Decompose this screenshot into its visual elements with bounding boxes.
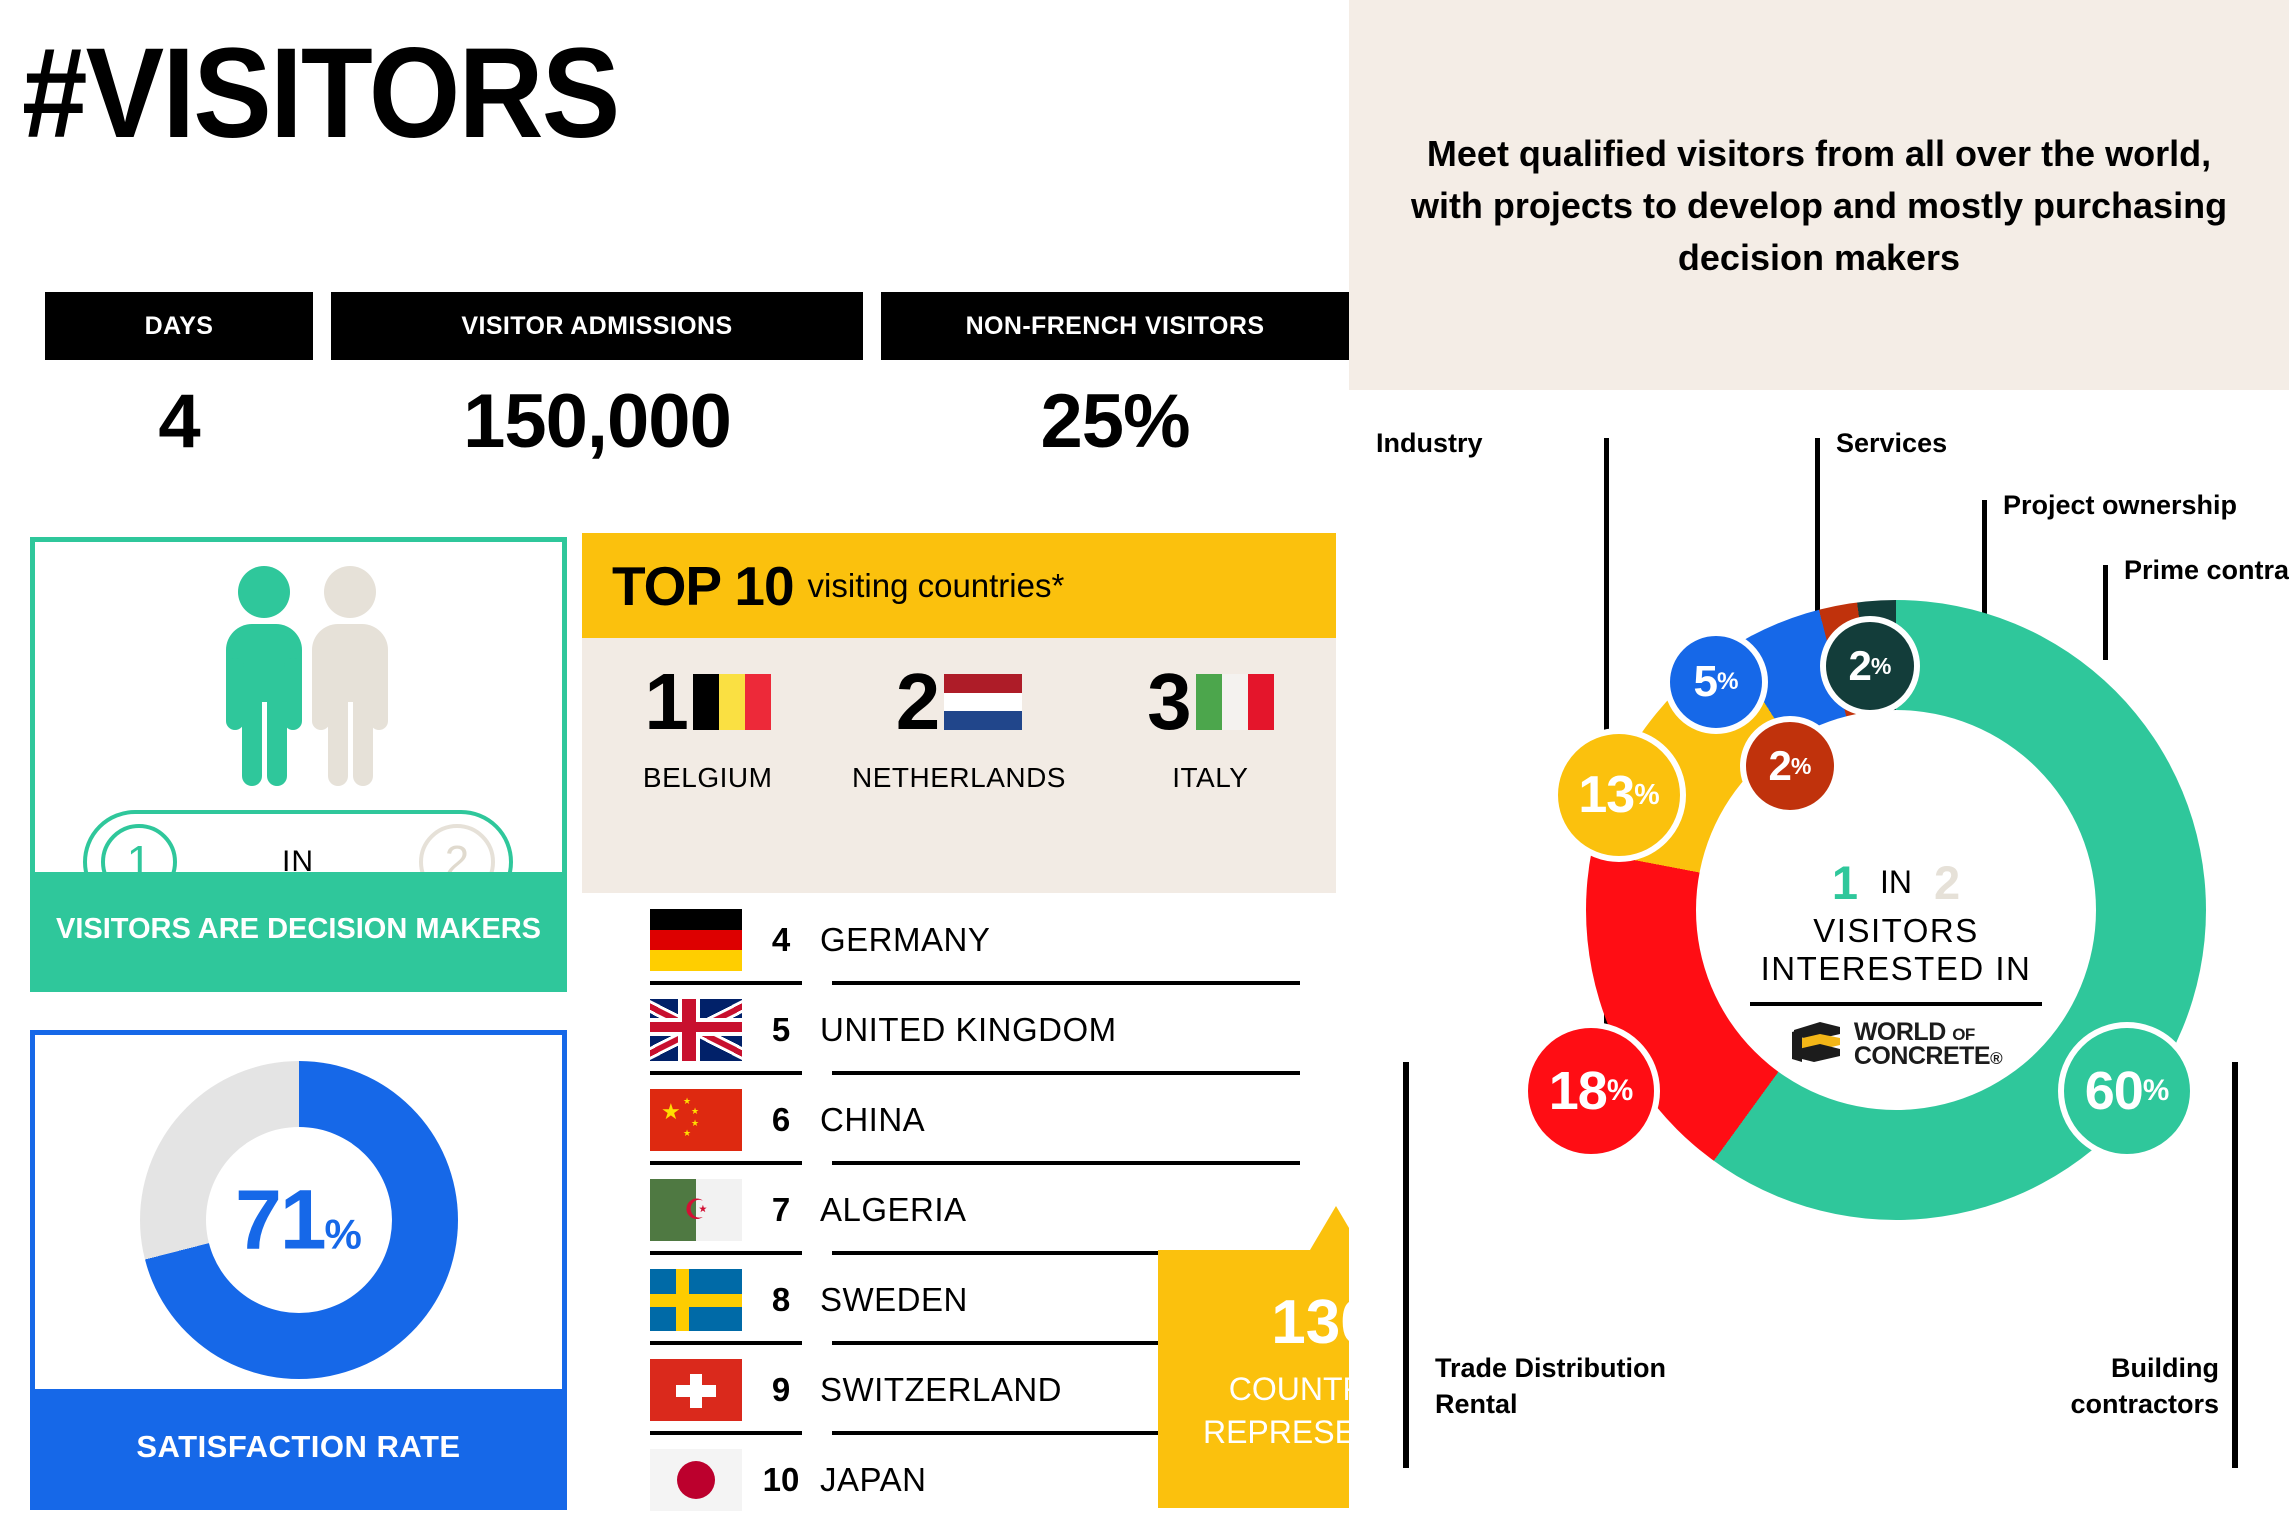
stat-value-row: 4 150,000 25% xyxy=(45,375,1349,467)
country-name: SWITZERLAND xyxy=(820,1371,1062,1409)
decision-makers-caption: VISITORS ARE DECISION MAKERS xyxy=(35,872,562,987)
flag-algeria-icon: ☪ xyxy=(650,1179,742,1241)
label-services: Services xyxy=(1836,428,1947,459)
center-ratio-denominator: 2 xyxy=(1934,855,1960,910)
bubble-value-prime: 2 xyxy=(1849,642,1871,690)
top10-subtitle: visiting countries* xyxy=(808,567,1065,605)
podium-rank-1: 1 xyxy=(644,662,687,742)
country-rank: 10 xyxy=(742,1461,820,1499)
bracket-right xyxy=(2232,1062,2238,1468)
label-industry: Industry xyxy=(1376,428,1483,459)
country-rank: 5 xyxy=(742,1011,820,1049)
country-name: GERMANY xyxy=(820,921,990,959)
stat-label-admissions: VISITOR ADMISSIONS xyxy=(331,292,863,360)
country-name: JAPAN xyxy=(820,1461,926,1499)
label-trade-distribution-rental: Trade Distribution Rental xyxy=(1435,1350,1666,1423)
world-of-concrete-mark-icon xyxy=(1790,1018,1844,1070)
center-ratio-numerator: 1 xyxy=(1832,855,1858,910)
country-rank: 6 xyxy=(742,1101,820,1139)
list-item: 4 GERMANY xyxy=(650,895,1300,985)
country-rank: 4 xyxy=(742,921,820,959)
satisfaction-number: 71 xyxy=(235,1173,324,1267)
bracket-left xyxy=(1403,1062,1409,1468)
bubble-prime-2: 2 % xyxy=(1820,616,1920,716)
stat-value-admissions: 150,000 xyxy=(331,375,863,467)
percent-sign: % xyxy=(1634,779,1659,812)
world-of-concrete-logo: WORLD OF CONCRETE® xyxy=(1690,1018,2102,1070)
leader-line-prime xyxy=(2103,565,2108,660)
flag-netherlands-icon xyxy=(944,674,1022,730)
leader-line-services xyxy=(1815,438,1820,628)
country-rank: 9 xyxy=(742,1371,820,1409)
person-green-icon xyxy=(220,566,292,746)
bubble-value-services: 5 xyxy=(1694,657,1717,707)
bubble-services-5: 5 % xyxy=(1664,630,1768,734)
flag-japan-icon xyxy=(650,1449,742,1511)
intro-text: Meet qualified visitors from all over th… xyxy=(1349,128,2289,285)
percent-sign: % xyxy=(1791,753,1812,780)
building-line2: contractors xyxy=(1949,1386,2219,1422)
label-building-contractors: Building contractors xyxy=(1949,1350,2219,1423)
podium-item-1: 1 BELGIUM xyxy=(582,638,833,794)
center-ratio-conjunction: IN xyxy=(1880,864,1912,901)
flag-italy-icon xyxy=(1196,674,1274,730)
bubble-value-trade: 18 xyxy=(1549,1060,1607,1122)
center-line3: INTERESTED IN xyxy=(1690,950,2102,988)
country-name: UNITED KINGDOM xyxy=(820,1011,1117,1049)
building-line1: Building xyxy=(1949,1350,2219,1386)
logo-word-concrete: CONCRETE xyxy=(1854,1042,1990,1070)
center-line2: VISITORS xyxy=(1690,912,2102,950)
percent-sign: % xyxy=(2143,1074,2169,1108)
top10-header: TOP 10 visiting countries* xyxy=(582,533,1336,638)
flag-sweden-icon xyxy=(650,1269,742,1331)
list-item: 5 UNITED KINGDOM xyxy=(650,985,1300,1075)
flag-china-icon: ★ ★ ★ ★ ★ xyxy=(650,1089,742,1151)
bubble-trade-18: 18 % xyxy=(1522,1022,1660,1160)
country-rank: 8 xyxy=(742,1281,820,1319)
podium-item-3: 3 ITALY xyxy=(1085,638,1336,794)
percent-sign: % xyxy=(1871,653,1892,680)
top10-title: TOP 10 xyxy=(612,554,794,618)
podium-name-3: ITALY xyxy=(1172,762,1248,794)
percent-sign: % xyxy=(1717,668,1739,696)
bubble-industry-13: 13 % xyxy=(1552,728,1686,862)
stat-value-non-french: 25% xyxy=(881,375,1349,467)
podium-rank-3: 3 xyxy=(1147,662,1190,742)
satisfaction-donut-chart: 71% xyxy=(140,1061,458,1379)
satisfaction-card: 71% SATISFACTION RATE xyxy=(30,1030,567,1510)
country-rank: 7 xyxy=(742,1191,820,1229)
person-grey-icon xyxy=(306,566,378,746)
donut-center-content: 1 IN 2 VISITORS INTERESTED IN WORLD OF xyxy=(1690,855,2102,1070)
satisfaction-caption: SATISFACTION RATE xyxy=(35,1389,562,1505)
stat-label-days: DAYS xyxy=(45,292,313,360)
country-name: ALGERIA xyxy=(820,1191,967,1229)
stat-label-non-french: NON-FRENCH VISITORS xyxy=(881,292,1349,360)
label-project-ownership: Project ownership xyxy=(2003,490,2237,521)
country-name: SWEDEN xyxy=(820,1281,968,1319)
podium-name-2: NETHERLANDS xyxy=(852,762,1066,794)
page-title: #VISITORS xyxy=(22,30,618,158)
logo-registered-mark: ® xyxy=(1990,1049,2002,1068)
satisfaction-value-label: 71% xyxy=(235,1172,362,1269)
podium-name-1: BELGIUM xyxy=(643,762,773,794)
list-item: ☪ 7 ALGERIA xyxy=(650,1165,1300,1255)
top10-podium: 1 BELGIUM 2 NETHERLANDS 3 xyxy=(582,638,1336,893)
percent-sign: % xyxy=(1607,1074,1633,1108)
list-item: ★ ★ ★ ★ ★ 6 CHINA xyxy=(650,1075,1300,1165)
trade-line1: Trade Distribution xyxy=(1435,1350,1666,1386)
flag-united-kingdom-icon xyxy=(650,999,742,1061)
bubble-project-ownership-2: 2 % xyxy=(1740,716,1840,816)
intro-panel: Meet qualified visitors from all over th… xyxy=(1349,0,2289,390)
decision-makers-card: 1 IN 2 VISITORS ARE DECISION MAKERS xyxy=(30,537,567,992)
flag-belgium-icon xyxy=(693,674,771,730)
stat-value-days: 4 xyxy=(45,375,313,467)
bubble-value-industry: 13 xyxy=(1578,765,1634,825)
trade-line2: Rental xyxy=(1435,1386,1666,1422)
bubble-value-project: 2 xyxy=(1769,742,1791,790)
flag-switzerland-icon xyxy=(650,1359,742,1421)
podium-item-2: 2 NETHERLANDS xyxy=(833,638,1084,794)
country-name: CHINA xyxy=(820,1101,925,1139)
center-divider xyxy=(1750,1002,2042,1006)
flag-germany-icon xyxy=(650,909,742,971)
satisfaction-percent-sign: % xyxy=(325,1211,362,1258)
people-icons xyxy=(35,566,562,746)
stat-header-bar: DAYS VISITOR ADMISSIONS NON-FRENCH VISIT… xyxy=(45,292,1349,360)
label-prime-contracting: Prime contracting xyxy=(2124,555,2289,586)
podium-rank-2: 2 xyxy=(896,662,939,742)
